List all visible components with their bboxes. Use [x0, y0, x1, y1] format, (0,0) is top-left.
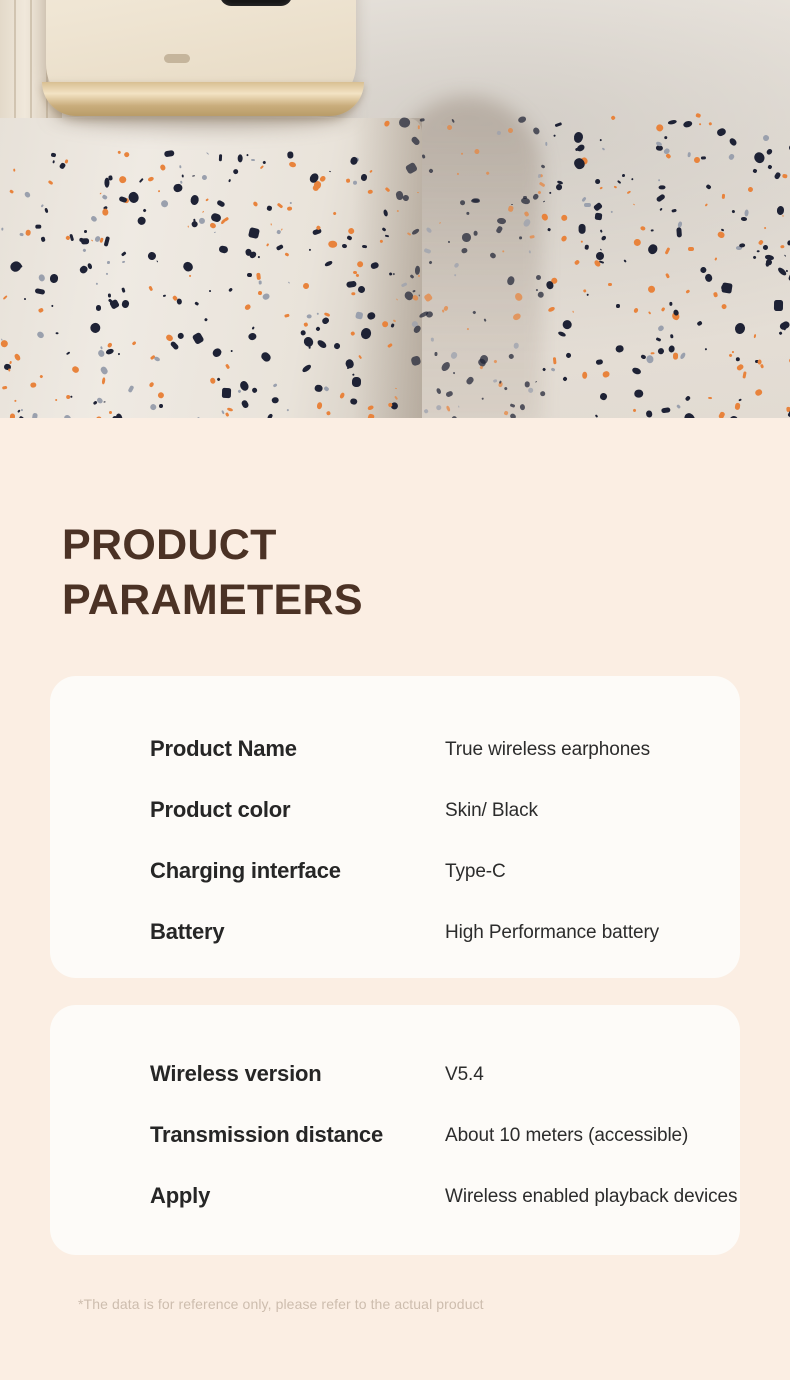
spec-label: Product color: [150, 797, 290, 823]
spec-label: Battery: [150, 919, 224, 945]
spec-label: Wireless version: [150, 1061, 321, 1087]
spec-value: About 10 meters (accessible): [445, 1125, 688, 1147]
spec-card-secondary: Wireless versionV5.4Transmission distanc…: [50, 1005, 740, 1255]
disclaimer-footnote: *The data is for reference only, please …: [78, 1296, 484, 1312]
spec-value: V5.4: [445, 1064, 484, 1086]
spec-label: Transmission distance: [150, 1122, 383, 1148]
earbud-slot: [164, 54, 190, 63]
heading-line-1: PRODUCT: [62, 518, 582, 573]
battery-led-display: 100: [220, 0, 292, 6]
heading-line-2: PARAMETERS: [62, 573, 582, 628]
section-heading: PRODUCT PARAMETERS: [62, 518, 582, 628]
spec-label: Apply: [150, 1183, 210, 1209]
spec-value: High Performance battery: [445, 922, 659, 944]
case-gold-rim: [42, 82, 364, 116]
spec-value: Wireless enabled playback devices: [445, 1186, 737, 1208]
spec-label: Charging interface: [150, 858, 341, 884]
product-hero-image: 100: [0, 0, 790, 418]
product-parameters-page: 100 PRODUCT PARAMETERS Product NameTrue …: [0, 0, 790, 1380]
spec-value: Skin/ Black: [445, 800, 538, 822]
spec-value: True wireless earphones: [445, 739, 650, 761]
earbud-hook: [46, 0, 241, 13]
spec-card-primary: Product NameTrue wireless earphonesProdu…: [50, 676, 740, 978]
spec-label: Product Name: [150, 736, 297, 762]
spec-value: Type-C: [445, 861, 506, 883]
